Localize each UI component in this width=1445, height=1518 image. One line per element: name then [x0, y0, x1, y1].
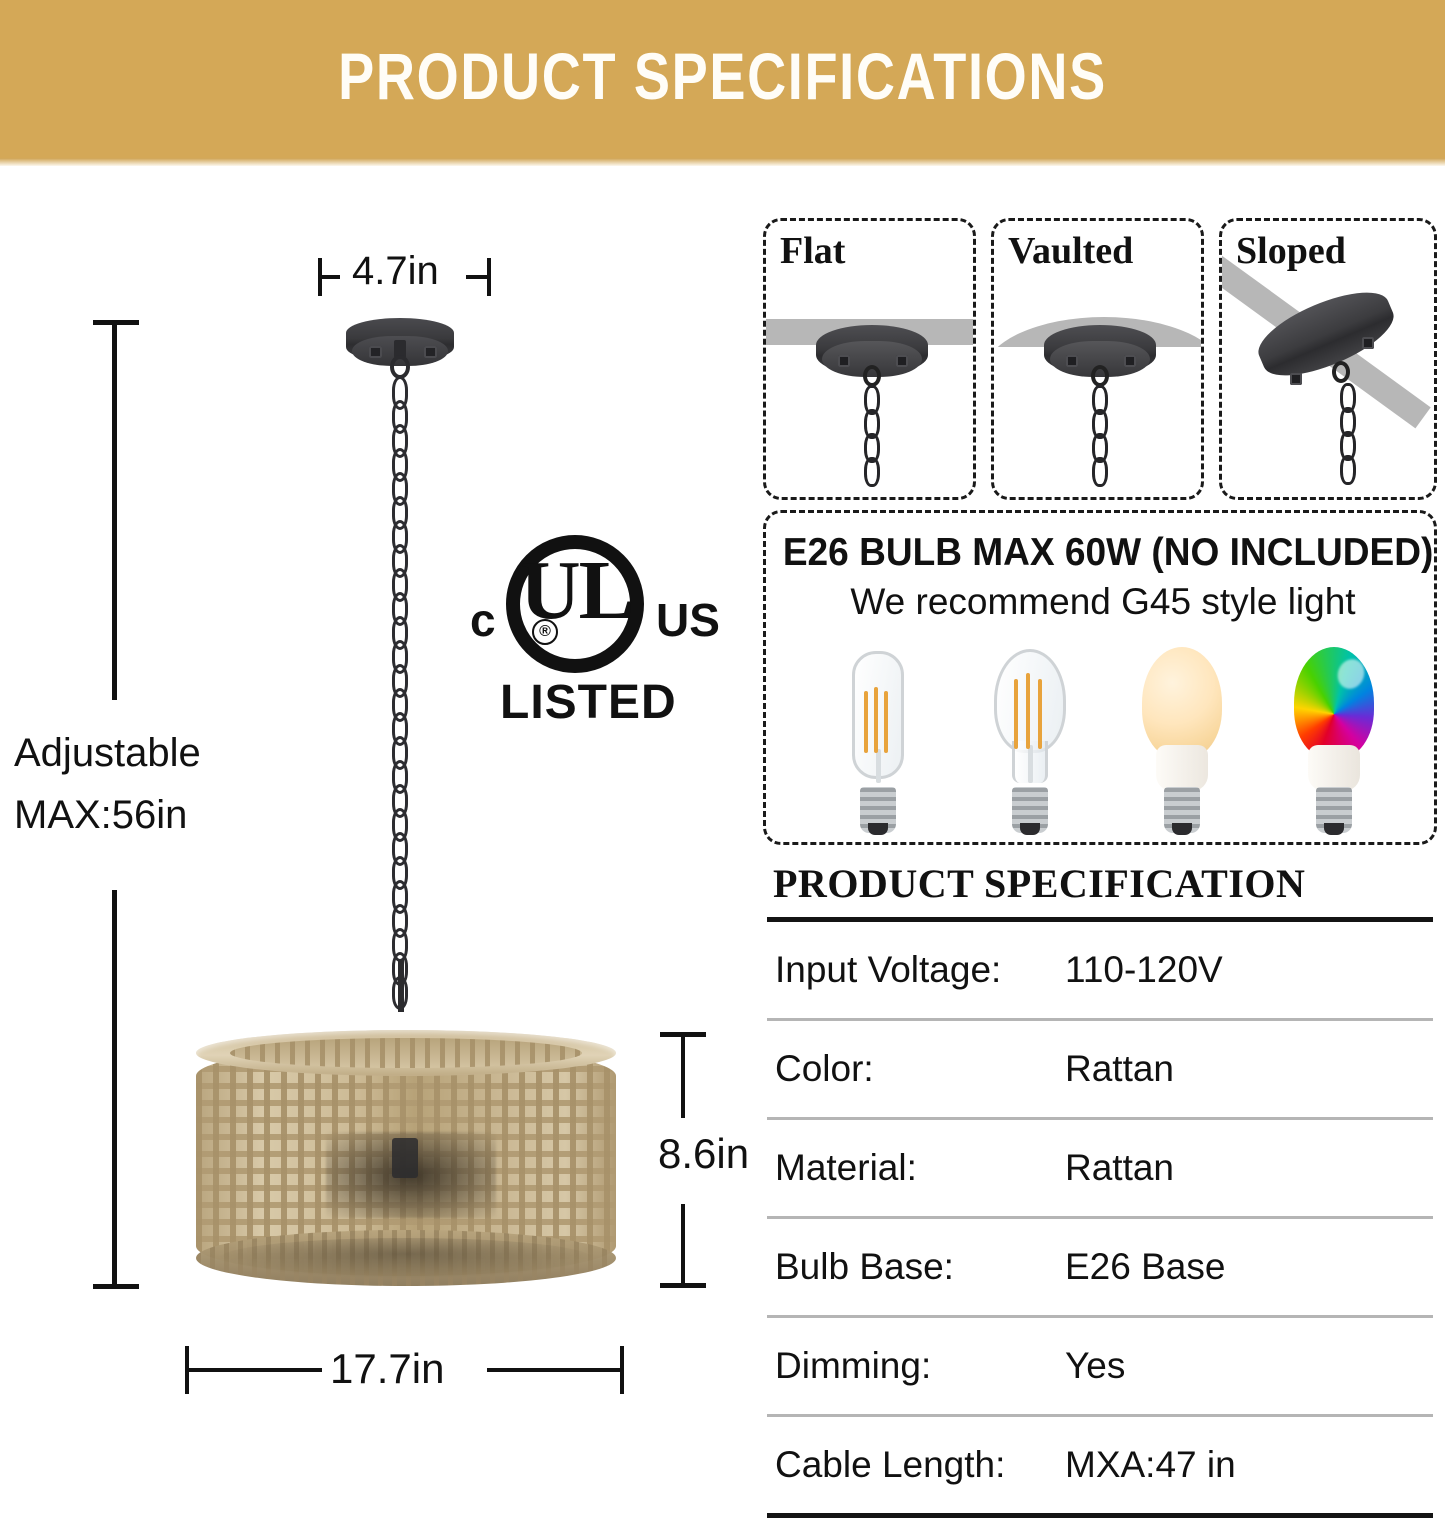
bulb-glass: [1142, 647, 1222, 759]
adjustable-height-label: Adjustable MAX:56in: [14, 722, 201, 846]
shade-socket-cluster: [392, 1138, 418, 1178]
bulb-stem: [1028, 745, 1033, 783]
bulb-wattage-text: E26 BULB MAX 60W (NO INCLUDED): [783, 531, 1423, 575]
canopy-screw-right: [1362, 337, 1374, 349]
bulb-base-tip: [1172, 823, 1192, 835]
page-header-banner: PRODUCT SPECIFICATIONS: [0, 0, 1445, 162]
bulb-requirement-panel: E26 BULB MAX 60W (NO INCLUDED) We recomm…: [763, 510, 1437, 845]
bulb-base-tip: [1020, 823, 1040, 835]
ceiling-type-panel-sloped: Sloped: [1219, 218, 1437, 500]
canopy-hanging-loop: [1091, 365, 1109, 387]
dimension-tick-right: [487, 258, 491, 296]
tubular-filament-bulb-icon: [826, 645, 930, 835]
ceiling-type-label-flat: Flat: [780, 229, 845, 273]
page-title: PRODUCT SPECIFICATIONS: [130, 38, 1315, 114]
spec-label: Input Voltage:: [775, 949, 1065, 991]
bulb-recommendation-text: We recommend G45 style light: [766, 581, 1440, 623]
bulb-stem: [876, 749, 881, 783]
ceiling-type-label-vaulted: Vaulted: [1008, 229, 1133, 273]
chain-link: [864, 457, 880, 487]
ceiling-type-panel-vaulted: Vaulted: [991, 218, 1204, 500]
bulb-filament: [874, 687, 878, 753]
adjustable-dimension-line-upper: [112, 320, 117, 700]
canopy-screw-right: [896, 355, 908, 367]
canopy-hanging-loop: [863, 365, 881, 387]
bulb-glass: [994, 649, 1066, 753]
spec-label: Cable Length:: [775, 1444, 1065, 1486]
dimension-bar-left: [318, 275, 340, 279]
ul-listed-text: LISTED: [500, 675, 660, 730]
height-dimension-cap-bottom: [660, 1283, 706, 1288]
rattan-drum-shade: [196, 1030, 616, 1292]
spec-table-bottom-rule: [767, 1513, 1433, 1518]
bulb-illustration-row: [826, 639, 1386, 835]
ceiling-type-label-sloped: Sloped: [1236, 229, 1346, 273]
ul-suffix-us: US: [656, 593, 720, 647]
table-row: Bulb Base: E26 Base: [767, 1219, 1437, 1315]
ul-listed-certification-icon: c UL ® US LISTED: [470, 535, 730, 715]
spec-table-title: PRODUCT SPECIFICATION: [773, 860, 1437, 907]
bulb-filament: [884, 691, 888, 753]
adjustable-dimension-line-lower: [112, 890, 117, 1288]
product-specification-table: PRODUCT SPECIFICATION Input Voltage: 110…: [767, 860, 1437, 1518]
spec-value: Rattan: [1065, 1048, 1174, 1090]
bulb-glass: [1294, 647, 1374, 759]
canopy-screw-left: [838, 355, 850, 367]
width-dimension-bar-right: [487, 1368, 622, 1372]
bulb-base-tip: [868, 823, 888, 835]
spec-value: Rattan: [1065, 1147, 1174, 1189]
canopy-hanging-loop: [1332, 361, 1350, 383]
shade-bottom-shadow: [220, 1238, 592, 1278]
warm-white-frosted-bulb-icon: [1130, 645, 1234, 835]
shade-height-label: 8.6in: [658, 1130, 749, 1178]
adjustable-height-line1: Adjustable: [14, 722, 201, 784]
rgb-color-changing-bulb-icon: [1282, 645, 1386, 835]
table-row: Color: Rattan: [767, 1021, 1437, 1117]
ul-registered-icon: ®: [532, 619, 558, 645]
adjustable-dimension-cap-bottom: [93, 1284, 139, 1289]
canopy-screw-right: [424, 346, 437, 358]
spec-label: Dimming:: [775, 1345, 1065, 1387]
bulb-filament: [1038, 679, 1042, 749]
canopy-screw-left: [1066, 355, 1078, 367]
chain-link: [1340, 455, 1356, 485]
width-dimension-bar-left: [187, 1368, 322, 1372]
table-row: Input Voltage: 110-120V: [767, 922, 1437, 1018]
bulb-glass-neck: [1308, 745, 1360, 791]
spec-value: 110-120V: [1065, 949, 1223, 991]
spec-label: Color:: [775, 1048, 1065, 1090]
bulb-filament: [1014, 679, 1018, 749]
bulb-base-tip: [1324, 823, 1344, 835]
ceiling-type-panel-flat: Flat: [763, 218, 976, 500]
hanging-chain: [389, 376, 411, 1002]
spec-label: Bulb Base:: [775, 1246, 1065, 1288]
canopy-screw-right: [1124, 355, 1136, 367]
table-row: Dimming: Yes: [767, 1318, 1437, 1414]
bulb-filament: [864, 691, 868, 753]
adjustable-height-line2: MAX:56in: [14, 784, 201, 846]
chain-link: [1092, 457, 1108, 487]
ul-prefix-c: c: [470, 593, 496, 647]
table-row: Material: Rattan: [767, 1120, 1437, 1216]
spec-label: Material:: [775, 1147, 1065, 1189]
table-row: Cable Length: MXA:47 in: [767, 1417, 1437, 1513]
width-dimension-cap-right: [620, 1346, 624, 1394]
canopy-screw-left: [1290, 373, 1302, 385]
chain-lower-rod: [398, 960, 404, 1012]
canopy-width-label: 4.7in: [352, 249, 439, 294]
dimension-bar-right: [466, 275, 488, 279]
bulb-glass-neck: [1156, 745, 1208, 791]
bulb-highlight: [1333, 655, 1368, 693]
canopy-screw-left: [369, 346, 382, 358]
shade-top-opening: [230, 1038, 582, 1068]
spec-value: Yes: [1065, 1345, 1125, 1387]
bulb-filament: [1026, 673, 1030, 749]
shade-diameter-label: 17.7in: [330, 1345, 444, 1393]
spec-value: E26 Base: [1065, 1246, 1225, 1288]
a19-filament-bulb-icon: [978, 645, 1082, 835]
spec-value: MXA:47 in: [1065, 1444, 1236, 1486]
